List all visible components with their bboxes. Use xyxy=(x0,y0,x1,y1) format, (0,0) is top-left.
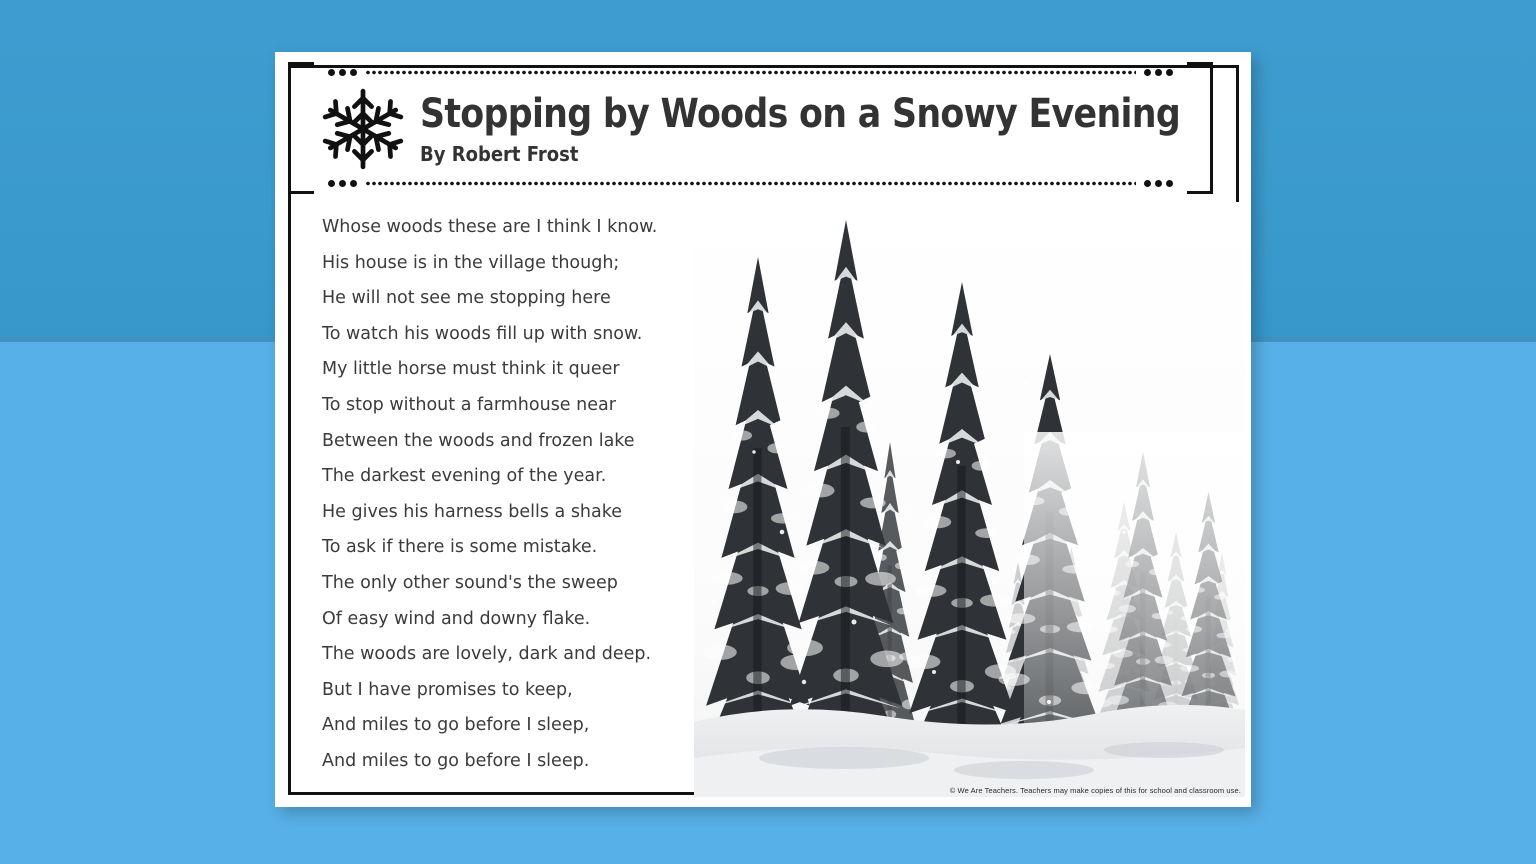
triple-dot-icon-bottom-left xyxy=(328,180,357,187)
poem-line: The woods are lovely, dark and deep. xyxy=(322,637,722,673)
screenshot-stage: Stopping by Woods on a Snowy Evening By … xyxy=(0,0,1536,864)
dotted-line-top xyxy=(365,70,1136,75)
dotted-line-bottom xyxy=(365,181,1136,186)
poem-line: Whose woods these are I think I know. xyxy=(322,210,722,246)
poem-line: His house is in the village though; xyxy=(322,246,722,282)
poem-line: To ask if there is some mistake. xyxy=(322,530,722,566)
poem-line: The only other sound's the sweep xyxy=(322,566,722,602)
header-rule-bottom xyxy=(314,179,1187,188)
worksheet-body: Whose woods these are I think I know. Hi… xyxy=(288,202,1239,794)
header-bracket-left xyxy=(288,62,314,194)
triple-dot-icon-bottom-right xyxy=(1144,180,1173,187)
poem-line: The darkest evening of the year. xyxy=(322,459,722,495)
poem-author: By Robert Frost xyxy=(420,142,1206,166)
poem-line: My little horse must think it queer xyxy=(322,352,722,388)
poem-line: And miles to go before I sleep, xyxy=(322,708,722,744)
poem-line: He gives his harness bells a shake xyxy=(322,495,722,531)
header-content: Stopping by Woods on a Snowy Evening By … xyxy=(320,80,1181,178)
poem-line: To stop without a farmhouse near xyxy=(322,388,722,424)
page-title: Stopping by Woods on a Snowy Evening xyxy=(420,93,1180,135)
poem-line: Of easy wind and downy flake. xyxy=(322,602,722,638)
poem-text: Whose woods these are I think I know. Hi… xyxy=(322,210,722,780)
triple-dot-icon-top-right xyxy=(1144,69,1173,76)
poem-line: To watch his woods fill up with snow. xyxy=(322,317,722,353)
poem-line: And miles to go before I sleep. xyxy=(322,744,722,780)
snowflake-icon xyxy=(320,86,406,172)
poem-line: He will not see me stopping here xyxy=(322,281,722,317)
header-frame: Stopping by Woods on a Snowy Evening By … xyxy=(288,62,1213,194)
poem-line: Between the woods and frozen lake xyxy=(322,424,722,460)
header-rule-top xyxy=(314,68,1187,77)
header-titles: Stopping by Woods on a Snowy Evening By … xyxy=(420,93,1294,166)
snowy-forest-illustration xyxy=(694,202,1245,797)
snowy-trees-photo: © We Are Teachers. Teachers may make cop… xyxy=(694,202,1245,797)
worksheet-page: Stopping by Woods on a Snowy Evening By … xyxy=(275,52,1251,807)
triple-dot-icon-top-left xyxy=(328,69,357,76)
photo-credit: © We Are Teachers. Teachers may make cop… xyxy=(950,786,1241,795)
poem-line: But I have promises to keep, xyxy=(322,673,722,709)
